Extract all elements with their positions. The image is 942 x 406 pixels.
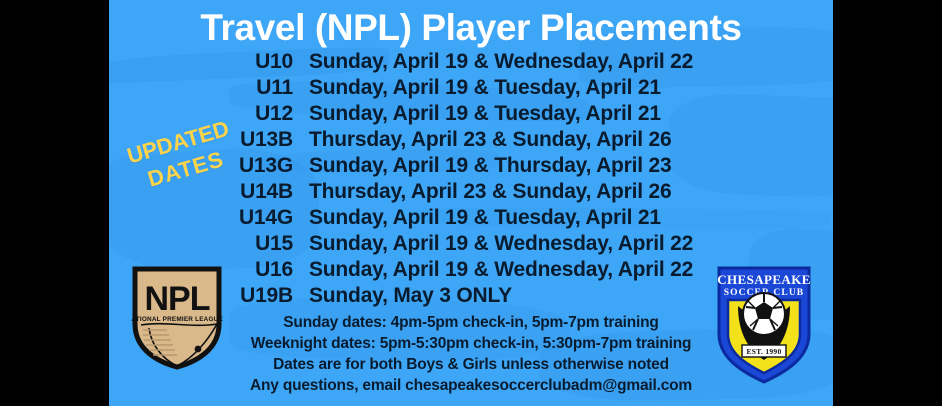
- table-row: U14B Thursday, April 23 & Sunday, April …: [109, 180, 833, 206]
- placement-dates: Sunday, April 19 & Tuesday, April 21: [309, 206, 661, 230]
- placement-dates: Sunday, April 19 & Tuesday, April 21: [309, 76, 661, 100]
- age-group-label: U14G: [109, 206, 309, 230]
- poster-title: Travel (NPL) Player Placements: [109, 6, 833, 50]
- placement-dates: Sunday, April 19 & Thursday, April 23: [309, 154, 672, 178]
- placement-dates: Thursday, April 23 & Sunday, April 26: [309, 180, 672, 204]
- svg-text:CHESAPEAKE: CHESAPEAKE: [717, 272, 811, 287]
- age-group-label: U11: [109, 76, 309, 100]
- note-contact-email: Any questions, email chesapeakesoccerclu…: [109, 375, 833, 396]
- note-sunday-times: Sunday dates: 4pm-5pm check-in, 5pm-7pm …: [109, 312, 833, 333]
- note-weeknight-times: Weeknight dates: 5pm-5:30pm check-in, 5:…: [109, 333, 833, 354]
- placement-dates: Sunday, April 19 & Tuesday, April 21: [309, 102, 661, 126]
- table-row: U15 Sunday, April 19 & Wednesday, April …: [109, 232, 833, 258]
- table-row: U14G Sunday, April 19 & Tuesday, April 2…: [109, 206, 833, 232]
- table-row: U10 Sunday, April 19 & Wednesday, April …: [109, 50, 833, 76]
- age-group-label: U15: [109, 232, 309, 256]
- footer-notes: Sunday dates: 4pm-5pm check-in, 5pm-7pm …: [109, 312, 833, 396]
- table-row: U11 Sunday, April 19 & Tuesday, April 21: [109, 76, 833, 102]
- placement-dates: Sunday, April 19 & Wednesday, April 22: [309, 258, 693, 282]
- placement-dates: Sunday, April 19 & Wednesday, April 22: [309, 50, 693, 74]
- poster-blue-panel: Travel (NPL) Player Placements U10 Sunda…: [109, 0, 833, 406]
- placement-dates: Sunday, April 19 & Wednesday, April 22: [309, 232, 693, 256]
- placement-dates: Thursday, April 23 & Sunday, April 26: [309, 128, 672, 152]
- age-group-label: U10: [109, 50, 309, 74]
- note-boys-girls: Dates are for both Boys & Girls unless o…: [109, 354, 833, 375]
- poster-canvas: Travel (NPL) Player Placements U10 Sunda…: [0, 0, 942, 406]
- placement-dates: Sunday, May 3 ONLY: [309, 284, 512, 308]
